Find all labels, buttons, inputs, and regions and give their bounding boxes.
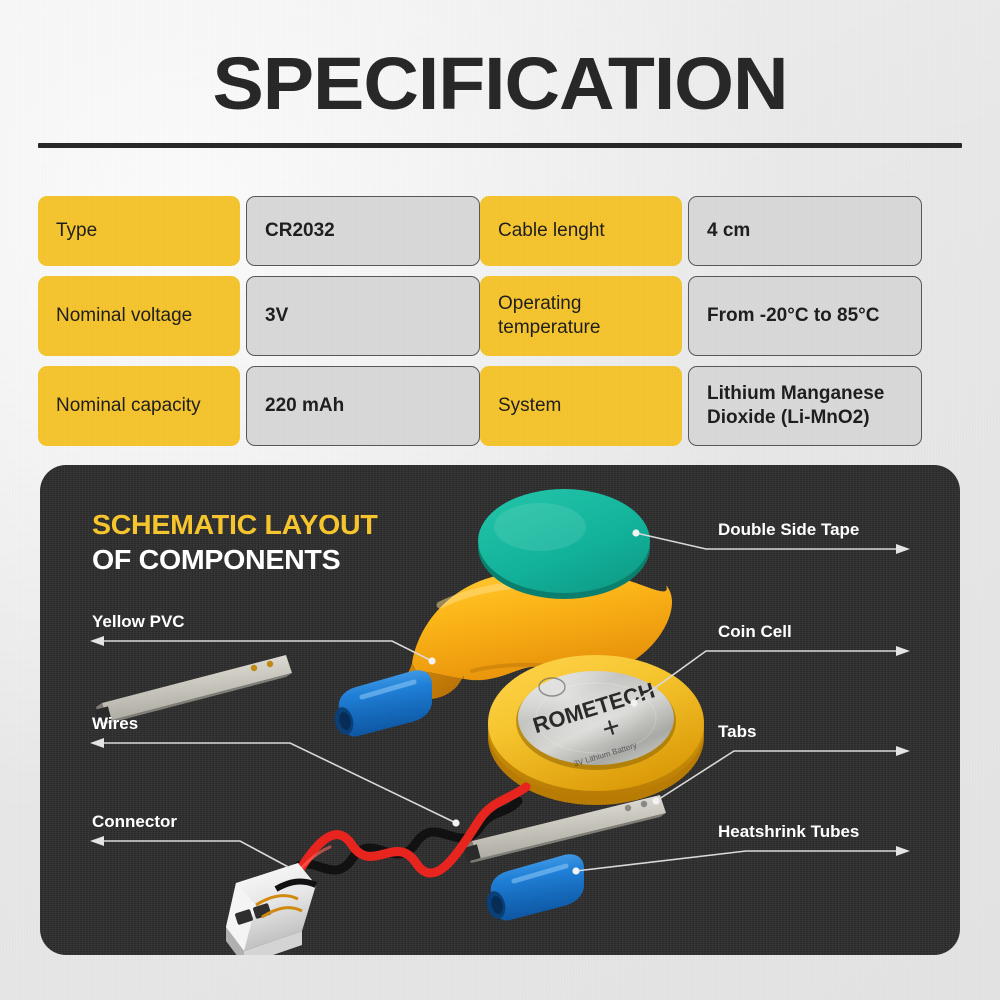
spec-key: Nominal capacity	[38, 366, 240, 446]
spec-row: Operating temperature From -20°C to 85°C	[480, 276, 922, 356]
spec-key: Nominal voltage	[38, 276, 240, 356]
infographic-page: SPECIFICATION Type CR2032 Nominal voltag…	[0, 0, 1000, 1000]
spec-column-left: Type CR2032 Nominal voltage 3V Nominal c…	[38, 196, 480, 456]
spec-column-right: Cable lenght 4 cm Operating temperature …	[480, 196, 922, 456]
callout-heatshrink-tubes: Heatshrink Tubes	[718, 821, 859, 842]
leader-heatshrink-tubes	[576, 851, 902, 871]
leader-connector	[98, 841, 292, 869]
schematic-heading: SCHEMATIC LAYOUT OF COMPONENTS	[92, 508, 372, 576]
leader-coin-cell	[634, 651, 902, 703]
schematic-heading-line1: SCHEMATIC LAYOUT	[92, 508, 377, 541]
spec-value: Lithium Manganese Dioxide (Li-MnO2)	[688, 366, 922, 446]
leader-tabs	[656, 751, 902, 801]
page-title: SPECIFICATION	[0, 44, 1000, 124]
callout-wires: Wires	[92, 713, 138, 734]
spec-key: Type	[38, 196, 240, 266]
schematic-panel: SCHEMATIC LAYOUT OF COMPONENTS	[40, 465, 960, 955]
spec-value: 3V	[246, 276, 480, 356]
callout-coin-cell: Coin Cell	[718, 621, 792, 642]
callout-tabs: Tabs	[718, 721, 756, 742]
callout-double-side-tape: Double Side Tape	[718, 519, 859, 540]
callout-connector: Connector	[92, 811, 177, 832]
spec-key: Operating temperature	[480, 276, 682, 356]
spec-row: Type CR2032	[38, 196, 480, 266]
spec-value: 4 cm	[688, 196, 922, 266]
spec-key: System	[480, 366, 682, 446]
spec-value: 220 mAh	[246, 366, 480, 446]
spec-row: Nominal voltage 3V	[38, 276, 480, 356]
leader-yellow-pvc	[98, 641, 432, 661]
callout-yellow-pvc: Yellow PVC	[92, 611, 185, 632]
spec-key: Cable lenght	[480, 196, 682, 266]
spec-row: System Lithium Manganese Dioxide (Li-MnO…	[480, 366, 922, 446]
spec-row: Cable lenght 4 cm	[480, 196, 922, 266]
title-divider	[38, 143, 962, 148]
spec-value: From -20°C to 85°C	[688, 276, 922, 356]
spec-value: CR2032	[246, 196, 480, 266]
schematic-heading-line2: OF COMPONENTS	[92, 543, 377, 576]
spec-row: Nominal capacity 220 mAh	[38, 366, 480, 446]
